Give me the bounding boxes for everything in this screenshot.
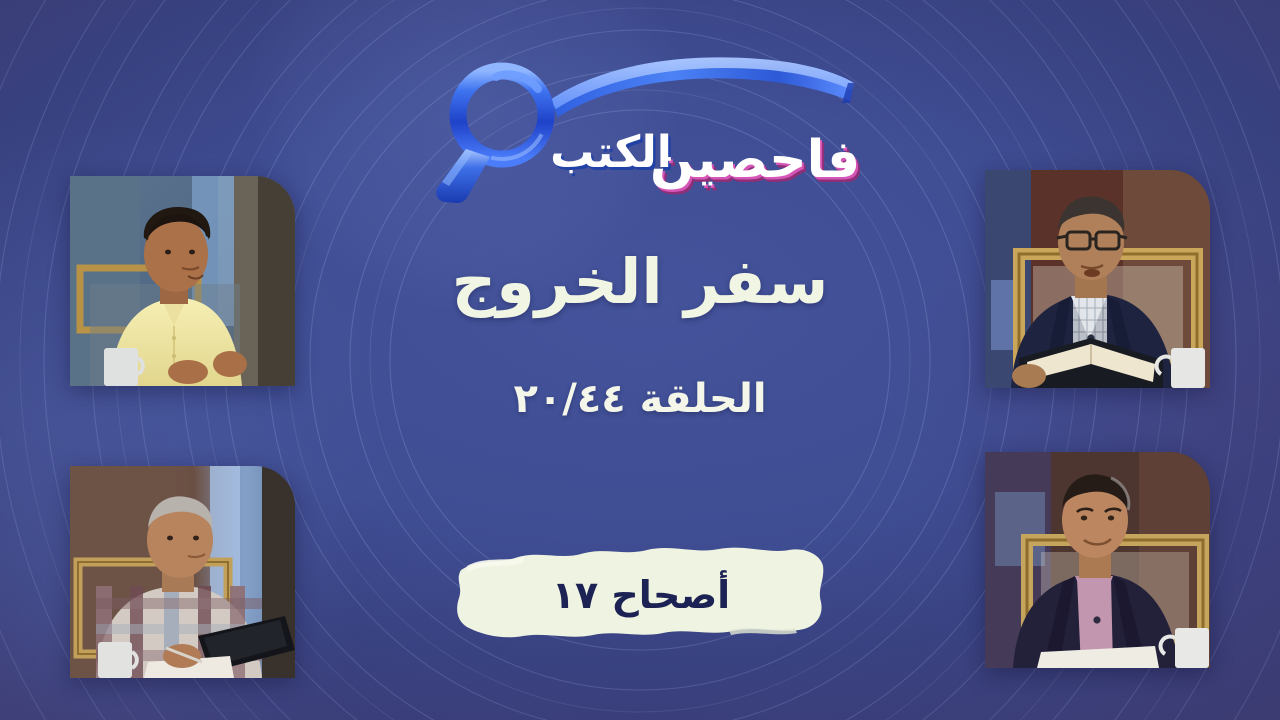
chapter-banner: أصحاح ١٧ [455,536,827,654]
photo-bottom-right-image [985,452,1210,668]
photo-bottom-left-image [70,466,295,678]
logo-text-primary: فاحصين فاحصين فاحصين [650,130,860,195]
photo-bottom-right [985,452,1210,668]
svg-text:فاحصين: فاحصين [650,130,860,190]
center-text-block: سفر الخروج الحلقة ٢٠/٤٤ [340,245,940,422]
photo-top-right [985,170,1210,388]
photo-top-left [70,176,295,386]
chapter-label: أصحاح ١٧ [455,573,827,617]
magnifying-glass-icon [436,71,546,203]
episode-label: الحلقة ٢٠/٤٤ [340,376,940,422]
photo-top-left-image [70,176,295,386]
page-title: سفر الخروج [340,245,940,318]
photo-bottom-left [70,466,295,678]
title-card: الكتب الكتب فاحصين فاحصين فاحصين [0,0,1280,720]
photo-top-right-image [985,170,1210,388]
program-logo: الكتب الكتب فاحصين فاحصين فاحصين [430,45,860,220]
